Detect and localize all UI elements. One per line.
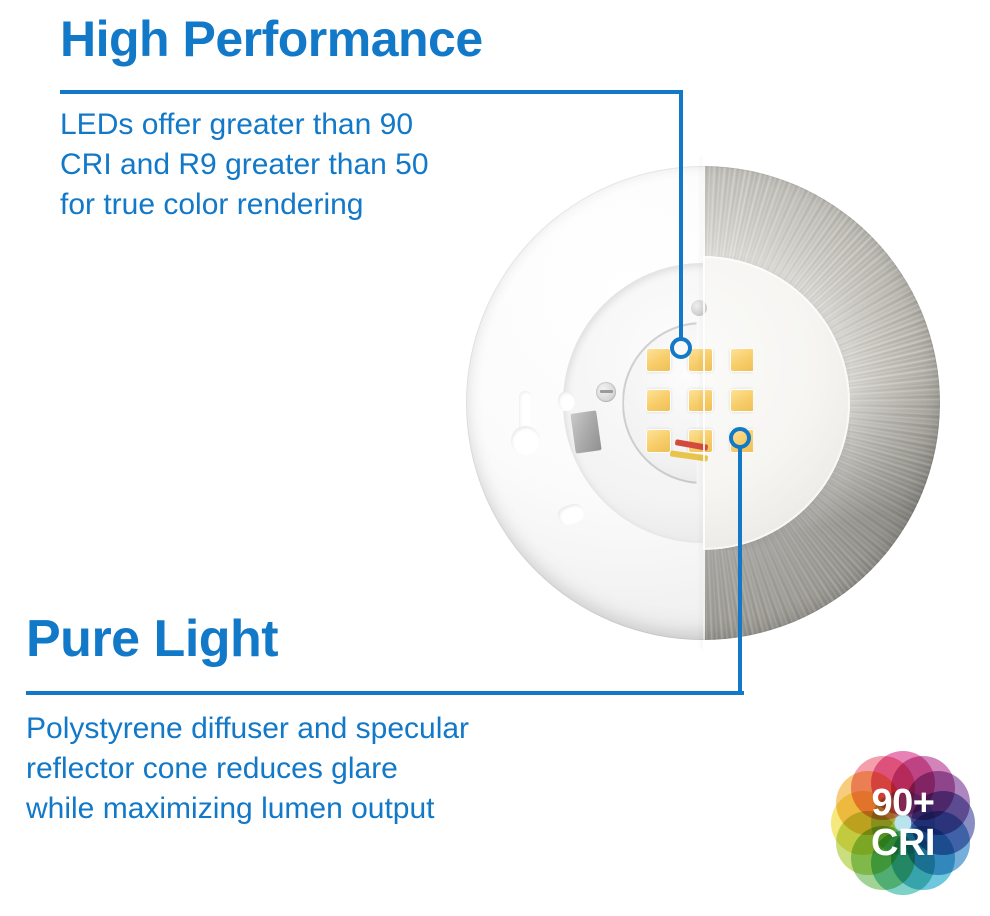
- leader-endpoint-diffuser: [729, 427, 751, 449]
- leader-line-high-performance: [679, 90, 683, 340]
- product-image-led-disk-light: [466, 166, 940, 640]
- callout-heading-high-performance: High Performance: [60, 14, 483, 64]
- led-chip: [730, 389, 755, 413]
- leader-line-pure-light: [738, 445, 742, 693]
- led-chip: [730, 348, 755, 372]
- module-screw-left: [596, 382, 616, 402]
- led-chip: [646, 348, 671, 372]
- cri-badge: 90+ CRI: [828, 748, 978, 898]
- keyhole-mounting-slot: [511, 391, 540, 455]
- led-chip: [646, 429, 671, 453]
- callout-body-pure-light: Polystyrene diffuser and specular reflec…: [26, 709, 469, 830]
- finish-split-seam: [703, 157, 705, 650]
- mounting-clip-bracket: [570, 411, 601, 455]
- callout-rule-high-performance: [60, 90, 683, 94]
- leader-endpoint-led-module: [670, 337, 692, 359]
- led-chip: [688, 389, 713, 413]
- infographic-canvas: High Performance LEDs offer greater than…: [0, 0, 990, 916]
- callout-heading-pure-light: Pure Light: [26, 613, 278, 665]
- callout-rule-pure-light: [26, 691, 744, 695]
- keyhole-round: [511, 426, 540, 455]
- screw-hole-upper: [558, 391, 574, 411]
- led-chip: [688, 348, 713, 372]
- cri-badge-label: CRI: [828, 824, 978, 862]
- led-chip: [646, 389, 671, 413]
- cri-badge-value: 90+: [828, 784, 978, 822]
- callout-body-high-performance: LEDs offer greater than 90 CRI and R9 gr…: [60, 105, 429, 226]
